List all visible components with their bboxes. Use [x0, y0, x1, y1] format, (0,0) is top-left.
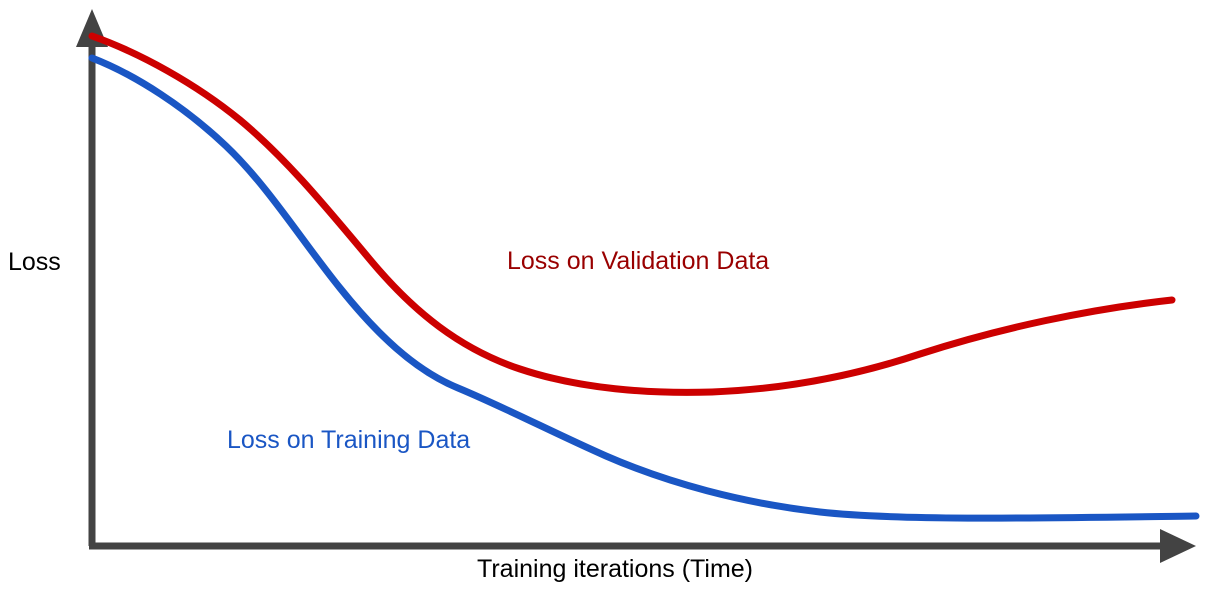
axes-group — [76, 9, 1196, 563]
validation-series-label: Loss on Validation Data — [507, 249, 769, 274]
chart-plot-area — [0, 0, 1206, 591]
loss-curve-chart: Loss Training iterations (Time) Loss on … — [0, 0, 1206, 591]
arrow-right-icon — [1160, 529, 1196, 563]
x-axis-label: Training iterations (Time) — [477, 557, 753, 582]
training-series-label: Loss on Training Data — [227, 428, 470, 453]
validation-loss-curve — [92, 36, 1172, 392]
y-axis-label: Loss — [8, 250, 61, 275]
